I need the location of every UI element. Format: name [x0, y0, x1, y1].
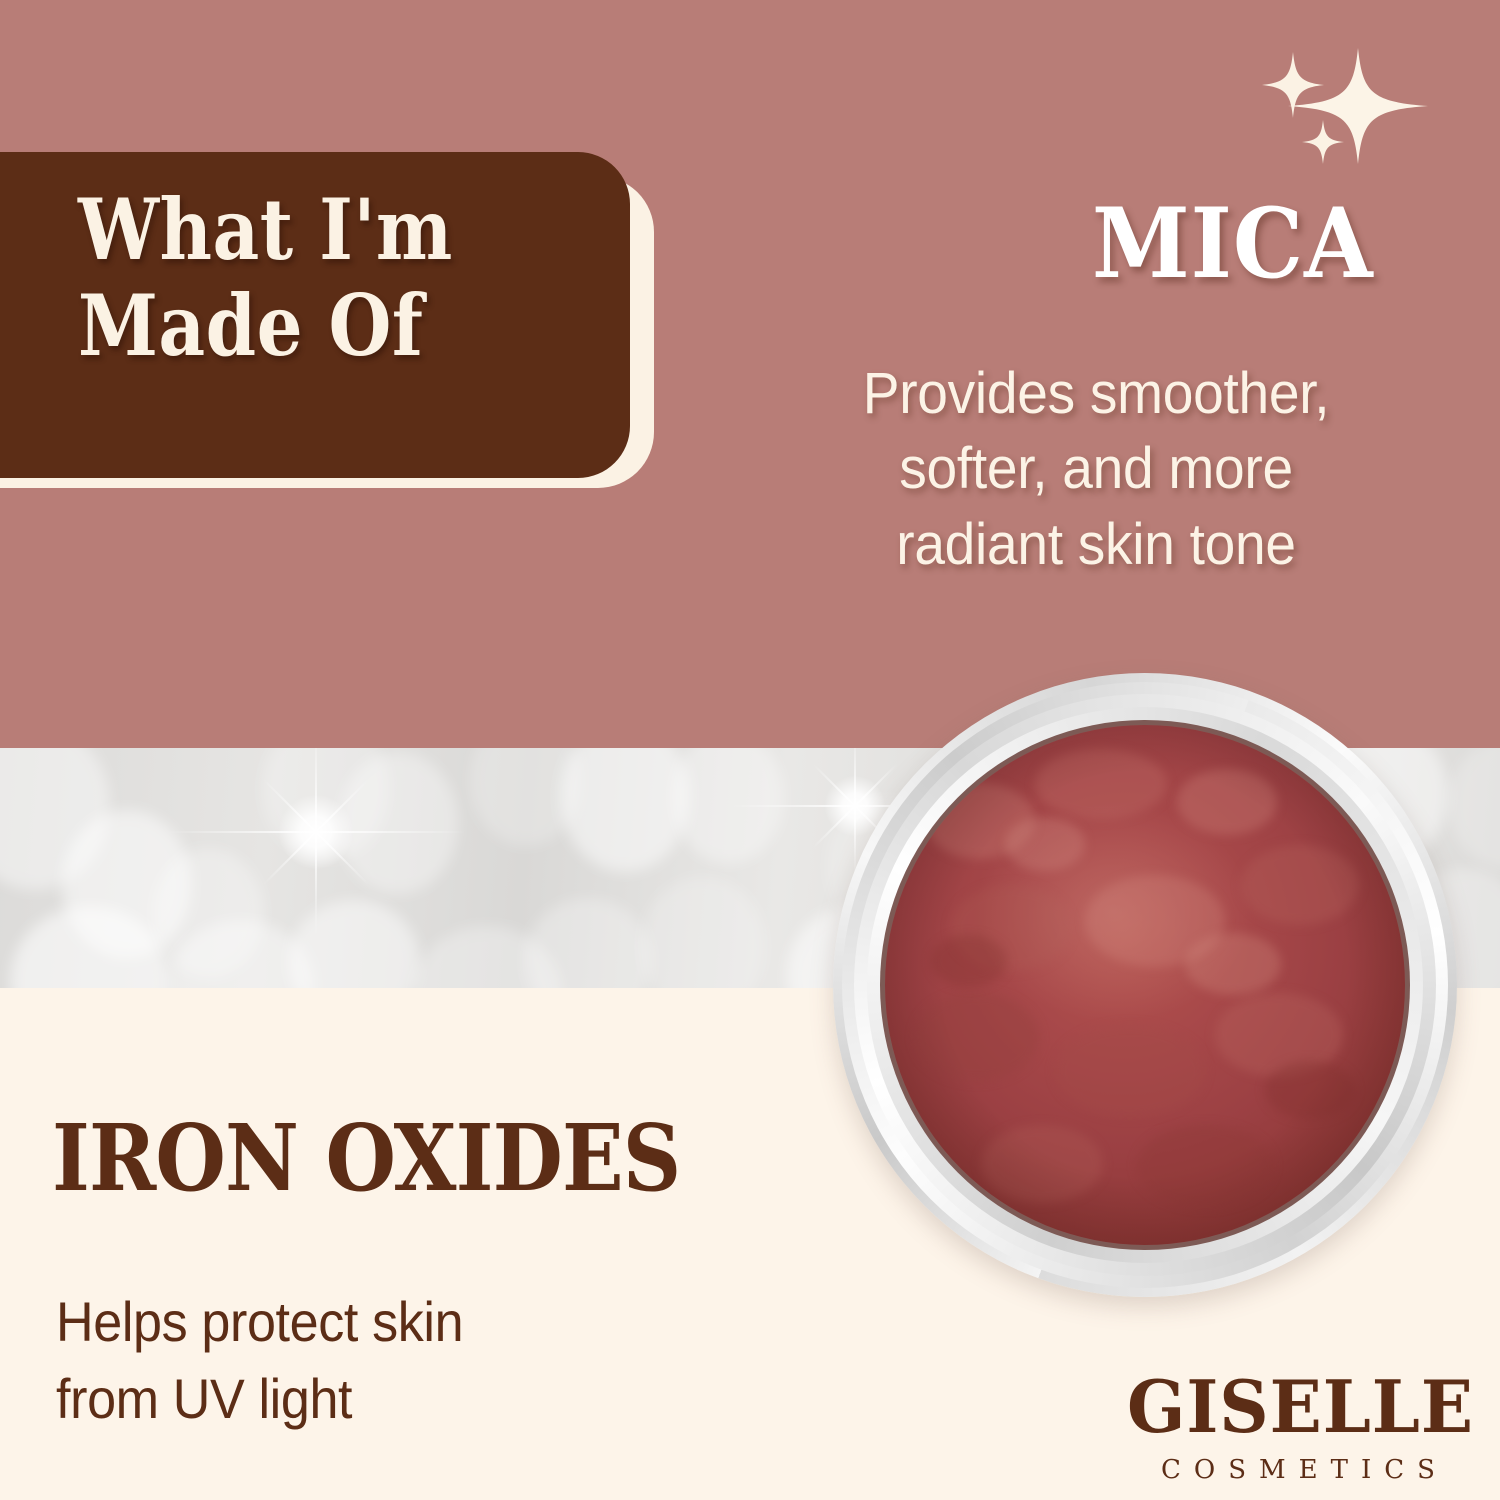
badge-title-line-2: Made Of	[78, 278, 525, 374]
mineral-powder	[885, 725, 1405, 1245]
ingredient-description-mica: Provides smoother, softer, and more radi…	[777, 356, 1415, 582]
iron-oxides-description-line-1: Helps protect skin	[56, 1283, 651, 1360]
ingredient-heading-iron-oxides: IRON OXIDES	[52, 1112, 680, 1204]
brand-logo: GISELLE COSMETICS	[1118, 1372, 1478, 1483]
brand-tagline: COSMETICS	[1118, 1457, 1478, 1483]
mica-description-line-3: radiant skin tone	[777, 507, 1415, 582]
ingredient-description-iron-oxides: Helps protect skin from UV light	[56, 1283, 651, 1438]
sparkle-icon	[1302, 120, 1344, 164]
powder-vignette	[885, 725, 1405, 1245]
ingredient-heading-mica: MICA	[1092, 196, 1374, 292]
brand-name: GISELLE	[1127, 1372, 1469, 1441]
product-jar	[833, 673, 1457, 1297]
mica-description-line-2: softer, and more	[777, 431, 1415, 506]
badge-title-line-1: What I'm	[78, 182, 525, 278]
infographic-canvas: What I'm Made Of MICA Provides smoother,…	[0, 0, 1500, 1500]
iron-oxides-description-line-2: from UV light	[56, 1360, 651, 1437]
badge-title: What I'm Made Of	[78, 182, 525, 374]
mica-description-line-1: Provides smoother,	[777, 356, 1415, 431]
